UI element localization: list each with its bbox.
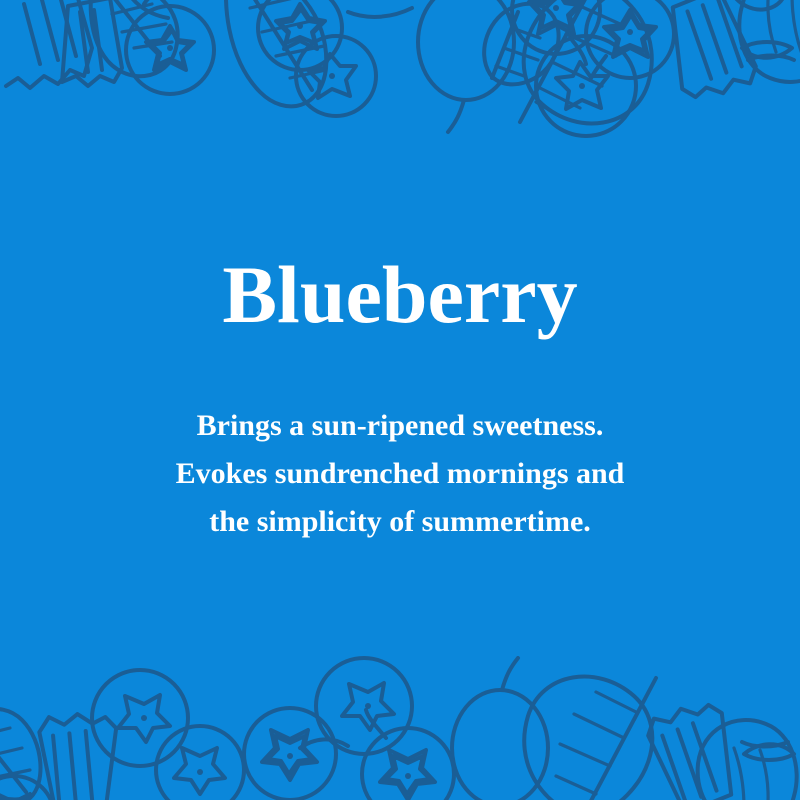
page-title: Blueberry — [222, 254, 577, 336]
flavor-description: Brings a sun-ripened sweetness. Evokes s… — [176, 402, 625, 546]
description-line: the simplicity of summertime. — [176, 498, 625, 546]
description-line: Brings a sun-ripened sweetness. — [176, 402, 625, 450]
description-line: Evokes sundrenched mornings and — [176, 450, 625, 498]
card-content: Blueberry Brings a sun-ripened sweetness… — [0, 0, 800, 800]
blueberry-flavor-card: Blueberry Brings a sun-ripened sweetness… — [0, 0, 800, 800]
